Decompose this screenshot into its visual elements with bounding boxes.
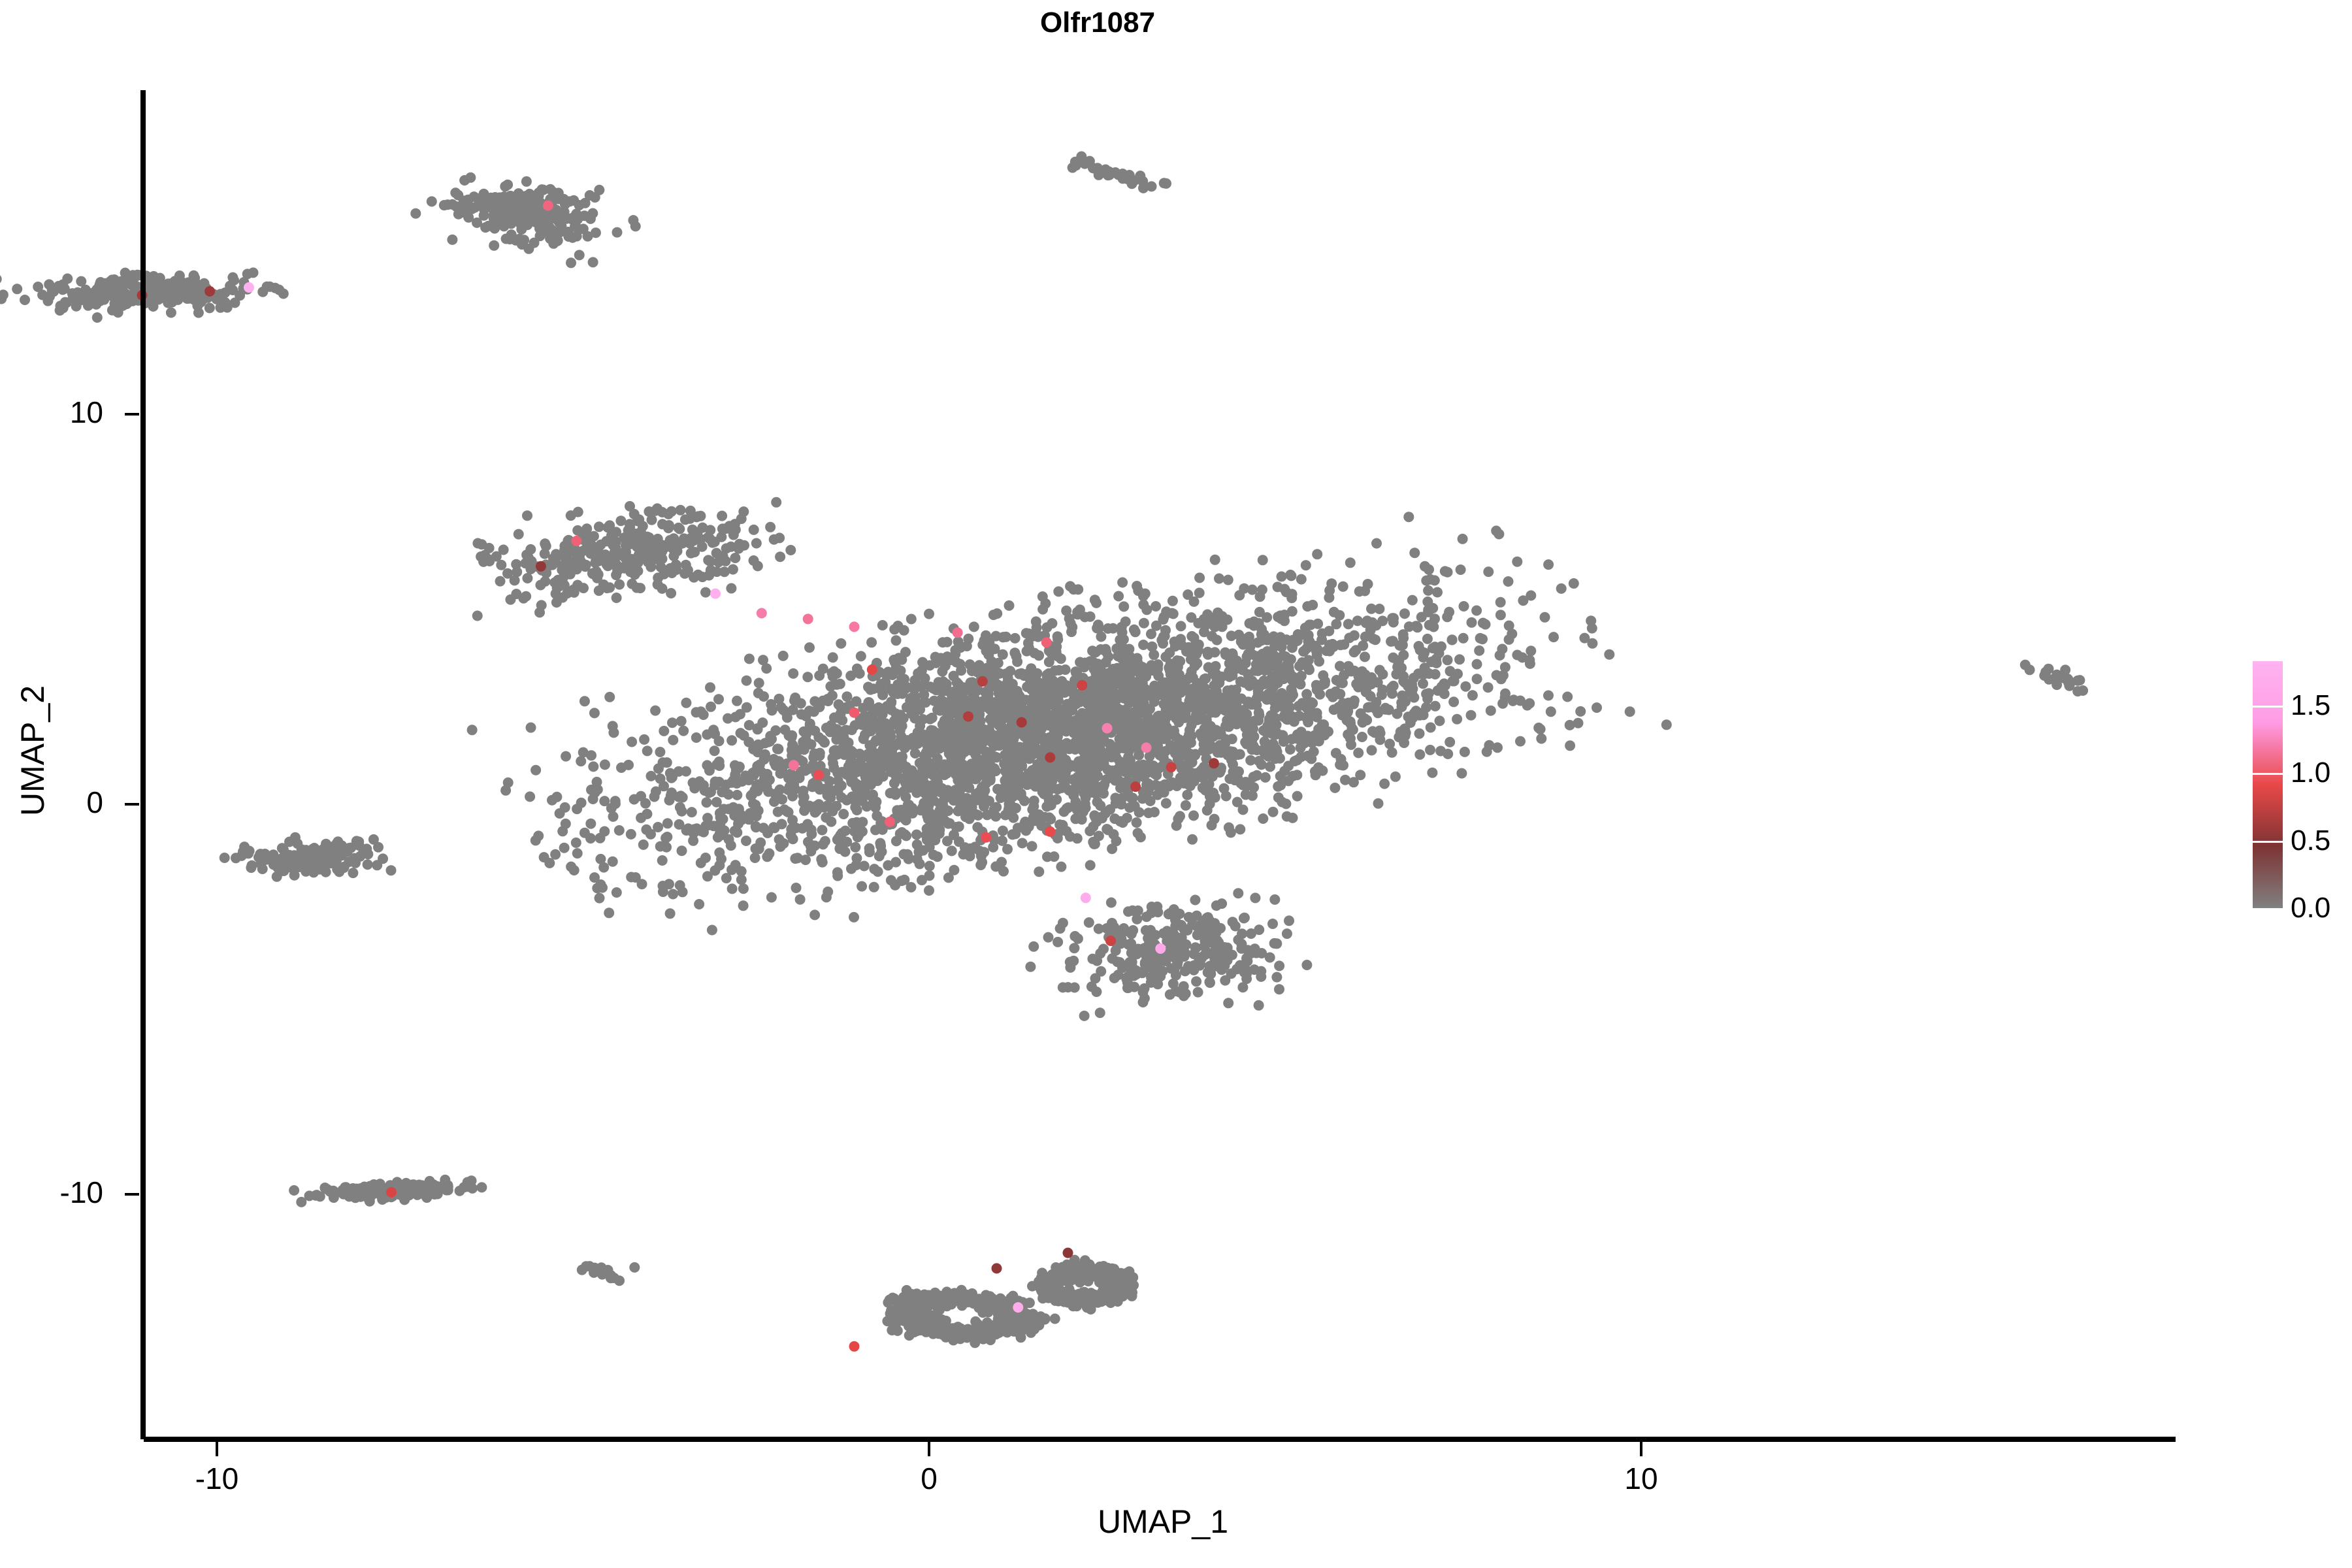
y-tick-label-2: -10 bbox=[0, 1175, 103, 1210]
x-tick-label-1: 0 bbox=[864, 1461, 994, 1496]
y-tick-label-0: 10 bbox=[0, 395, 103, 430]
colorbar-label-0: 0.0 bbox=[2291, 892, 2330, 924]
y-tick-0 bbox=[125, 413, 139, 416]
colorbar-label-1: 0.5 bbox=[2291, 825, 2330, 857]
y-tick-2 bbox=[125, 1193, 139, 1196]
colorbar-legend: 0.00.51.01.5 bbox=[2247, 653, 2352, 915]
y-axis-line bbox=[140, 90, 146, 1439]
colorbar-gradient bbox=[2253, 661, 2283, 908]
scatter-plot-panel bbox=[0, 0, 2195, 1437]
x-tick-label-2: 10 bbox=[1576, 1461, 1707, 1496]
colorbar-label-2: 1.0 bbox=[2291, 757, 2330, 789]
x-axis-line bbox=[144, 1437, 2176, 1442]
colorbar-tick-2 bbox=[2253, 773, 2283, 775]
x-tick-label-0: -10 bbox=[152, 1461, 282, 1496]
umap-feature-plot: Olfr1087 -10010100-10 UMAP_1 UMAP_2 0.00… bbox=[0, 0, 2352, 1568]
x-tick-0 bbox=[216, 1442, 218, 1456]
colorbar-tick-1 bbox=[2253, 841, 2283, 843]
y-tick-1 bbox=[125, 803, 139, 806]
y-axis-title: UMAP_2 bbox=[14, 620, 52, 881]
colorbar-tick-3 bbox=[2253, 706, 2283, 708]
x-axis-title: UMAP_1 bbox=[0, 1503, 2326, 1541]
scatter-points-layer bbox=[0, 0, 2195, 1437]
colorbar-label-3: 1.5 bbox=[2291, 689, 2330, 722]
x-tick-1 bbox=[928, 1442, 930, 1456]
x-tick-2 bbox=[1640, 1442, 1642, 1456]
